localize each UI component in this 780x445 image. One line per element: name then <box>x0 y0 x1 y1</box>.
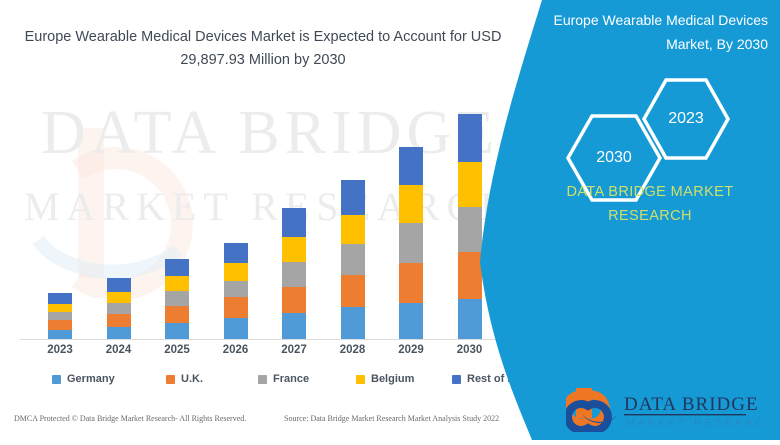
hexagon-2030-label: 2030 <box>562 110 666 206</box>
chart-title: Europe Wearable Medical Devices Market i… <box>18 26 508 72</box>
brand-panel-content: Europe Wearable Medical Devices Market, … <box>520 0 780 440</box>
bar-segment <box>165 291 189 306</box>
legend-label: Rest of Europe <box>467 373 545 385</box>
axis-baseline <box>20 339 510 340</box>
hexagon-2023: 2023 <box>638 74 734 164</box>
bar-segment <box>399 147 423 185</box>
bar-segment <box>165 259 189 276</box>
legend-swatch-icon <box>258 375 267 384</box>
hexagon-2030: 2030 <box>562 110 666 206</box>
bar-segment <box>48 330 72 339</box>
bar-2028[interactable] <box>341 180 365 339</box>
brand-name: DATA BRIDGE MARKET RESEARCH <box>534 180 766 228</box>
legend-swatch-icon <box>52 375 61 384</box>
x-axis-label-2023: 2023 <box>36 344 84 356</box>
bar-segment <box>341 215 365 244</box>
bar-segment <box>165 323 189 339</box>
x-axis-label-2030: 2030 <box>446 344 494 356</box>
bar-2030[interactable] <box>458 114 482 339</box>
bar-segment <box>107 292 131 303</box>
chart-panel: DATA BRIDGE MARKET RESEARCH Europe Weara… <box>0 0 545 440</box>
bar-segment <box>399 223 423 263</box>
bar-segment <box>458 207 482 252</box>
x-axis-label-2029: 2029 <box>387 344 435 356</box>
bar-2029[interactable] <box>399 147 423 339</box>
bar-segment <box>458 299 482 339</box>
hexagon-group: 2030 2023 <box>562 88 752 173</box>
bar-segment <box>458 114 482 162</box>
footer: DMCA Protected © Data Bridge Market Rese… <box>0 414 545 436</box>
bar-segment <box>107 314 131 327</box>
bar-segment <box>458 252 482 299</box>
legend-label: France <box>273 373 309 385</box>
bar-segment <box>224 281 248 297</box>
bar-2024[interactable] <box>107 278 131 339</box>
legend-item-france[interactable]: France <box>258 373 309 385</box>
bar-segment <box>224 263 248 281</box>
brand-panel-title: Europe Wearable Medical Devices Market, … <box>532 8 768 56</box>
bar-segment <box>107 327 131 339</box>
bar-2025[interactable] <box>165 259 189 339</box>
bar-segment <box>165 276 189 291</box>
legend-swatch-icon <box>452 375 461 384</box>
chart-legend: GermanyU.K.FranceBelgiumRest of Europe <box>26 373 526 393</box>
bar-segment <box>224 297 248 318</box>
infographic-root: DATA BRIDGE MARKET RESEARCH Europe Weara… <box>0 0 780 440</box>
bar-segment <box>399 303 423 339</box>
legend-item-germany[interactable]: Germany <box>52 373 115 385</box>
bar-2027[interactable] <box>282 208 306 339</box>
bar-segment <box>341 180 365 215</box>
bar-segment <box>107 303 131 314</box>
legend-label: U.K. <box>181 373 203 385</box>
brand-name-line2: RESEARCH <box>534 204 766 228</box>
bar-segment <box>282 237 306 262</box>
legend-swatch-icon <box>356 375 365 384</box>
bar-segment <box>224 243 248 263</box>
legend-swatch-icon <box>166 375 175 384</box>
bar-2023[interactable] <box>48 293 72 339</box>
plot-area <box>20 95 520 340</box>
bar-segment <box>224 318 248 339</box>
footer-source: Source: Data Bridge Market Research Mark… <box>284 414 499 423</box>
bar-segment <box>282 313 306 339</box>
bar-segment <box>282 287 306 313</box>
x-axis-label-2027: 2027 <box>270 344 318 356</box>
bar-segment <box>341 275 365 307</box>
bar-segment <box>107 278 131 292</box>
bar-segment <box>48 320 72 330</box>
x-axis-labels: 20232024202520262027202820292030 <box>20 344 520 362</box>
bar-segment <box>341 244 365 275</box>
hexagon-2023-label: 2023 <box>638 74 734 164</box>
x-axis-label-2024: 2024 <box>95 344 143 356</box>
bar-segment <box>282 262 306 287</box>
bar-segment <box>165 306 189 323</box>
legend-label: Germany <box>67 373 115 385</box>
svg-text:MARKET RESEARCH: MARKET RESEARCH <box>626 418 766 429</box>
legend-item-u-k[interactable]: U.K. <box>166 373 203 385</box>
legend-label: Belgium <box>371 373 414 385</box>
bar-segment <box>458 162 482 207</box>
bar-segment <box>48 304 72 312</box>
x-axis-label-2025: 2025 <box>153 344 201 356</box>
bar-segment <box>399 263 423 303</box>
legend-item-rest-of-europe[interactable]: Rest of Europe <box>452 373 545 385</box>
bar-segment <box>399 185 423 223</box>
bar-2026[interactable] <box>224 243 248 339</box>
dbmr-logo: DATA BRIDGE MARKET RESEARCH <box>566 384 766 432</box>
bar-segment <box>48 312 72 320</box>
x-axis-label-2026: 2026 <box>212 344 260 356</box>
bar-segment <box>341 307 365 339</box>
bar-segment <box>48 293 72 304</box>
bar-segment <box>282 208 306 237</box>
brand-name-line1: DATA BRIDGE MARKET <box>534 180 766 204</box>
legend-item-belgium[interactable]: Belgium <box>356 373 414 385</box>
svg-text:DATA BRIDGE: DATA BRIDGE <box>624 394 759 415</box>
footer-copyright: DMCA Protected © Data Bridge Market Rese… <box>14 414 246 423</box>
x-axis-label-2028: 2028 <box>329 344 377 356</box>
